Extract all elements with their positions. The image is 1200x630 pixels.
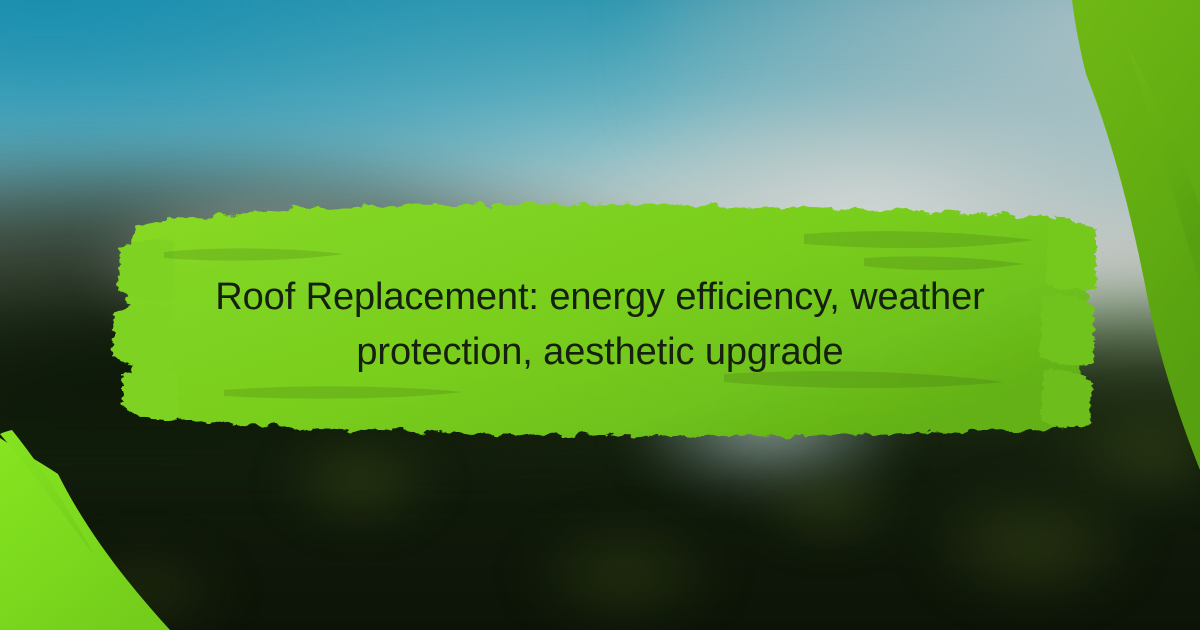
banner-canvas: Roof Replacement: energy efficiency, wea…: [0, 0, 1200, 630]
banner-edge-right-chunk-1: [1046, 220, 1096, 290]
page-title: Roof Replacement: energy efficiency, wea…: [150, 270, 1050, 379]
